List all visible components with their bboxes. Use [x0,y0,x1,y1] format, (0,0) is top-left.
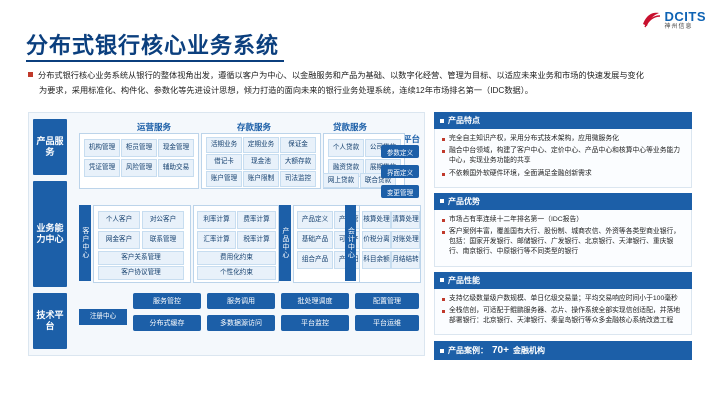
slide-root: DCITS 神州信息 分布式银行核心业务系统 分布式银行核心业务系统从银行的整体… [0,0,720,405]
cell-operation-4[interactable]: 风险管理 [121,159,157,177]
cell-operation-5[interactable]: 辅助交易 [158,159,194,177]
layer-product-service: 产品服务 [33,119,67,175]
intro-line-2: 为要求，采用标准化、构件化、参数化等先进设计思想，倾力打造的面向未来的银行业务处… [39,86,533,95]
list-item: 支持亿级数量级户数规模、单日亿级交易量；平均交易响应时间小于100毫秒 [442,294,684,304]
cell-operation-3[interactable]: 凭证管理 [84,159,120,177]
layer-tech-platform: 技术平台 [33,293,67,349]
vlabel-customer-center: 客户中心 [79,205,91,281]
list-item: 市场占有率连续十二年排名第一（IDC报告） [442,215,684,225]
group-deposit: 活期业务 定期业务 保证金 借记卡 现金池 大额存款 账户管理 账户限制 司法监… [201,133,321,189]
square-icon [440,119,444,123]
bullet-icon [28,72,33,77]
layer-capability-center: 业务能力中心 [33,181,67,287]
cell-operation-0[interactable]: 机构管理 [84,139,120,157]
vlabel-account-center: 会计中心 [345,205,356,281]
cell-product-0[interactable]: 产品定义 [297,211,333,229]
cell-pricing-0[interactable]: 利率计算 [197,211,236,229]
cell-tech-7[interactable]: 平台运维 [355,315,419,331]
cell-account-0[interactable]: 核算处理 [362,211,391,229]
cell-deposit-1[interactable]: 定期业务 [243,137,279,153]
vlabel-product-center: 产品中心 [279,205,291,281]
cell-tech-5[interactable]: 多数据源访问 [207,315,275,331]
cell-tech-0[interactable]: 服务管控 [133,293,201,309]
cell-registry-center[interactable]: 注册中心 [79,309,127,325]
info-header-performance: 产品性能 [434,272,692,289]
info-title-advantages: 产品优势 [448,196,480,207]
cell-customer-5[interactable]: 客户协议管理 [98,266,184,280]
cell-tech-1[interactable]: 服务调用 [207,293,275,309]
cell-deposit-4[interactable]: 现金池 [243,154,279,170]
info-body-performance: 支持亿级数量级户数规模、单日亿级交易量；平均交易响应时间小于100毫秒 全栈信创… [434,289,692,336]
logo-mark-icon [641,10,661,30]
page-title: 分布式银行核心业务系统 [26,28,279,60]
cell-deposit-6[interactable]: 账户管理 [206,171,242,187]
cell-loan-0[interactable]: 个人贷款 [328,139,364,157]
cell-account-2[interactable]: 价税分离 [362,231,391,249]
section-title-operation: 运营服务 [115,121,193,133]
list-item: 融合中台领域，构建了客户中心、定价中心、产品中心和核算中心等业务能力中心，实现业… [442,146,684,166]
brand-logo: DCITS 神州信息 [641,10,707,30]
cell-deposit-2[interactable]: 保证金 [280,137,316,153]
cell-account-4[interactable]: 科目余额 [362,251,391,269]
info-body-features: 完全自主知识产权，采用分布式技术架构，应用微服务化 融合中台领域，构建了客户中心… [434,129,692,188]
cell-customer-3[interactable]: 联系管理 [142,231,184,249]
layer-labels: 产品服务 业务能力中心 技术平台 [29,113,71,355]
square-icon [440,199,444,203]
cell-loan-4[interactable]: 网上贷款 [323,173,359,188]
cell-account-1[interactable]: 清算处理 [391,211,420,229]
cell-product-2[interactable]: 基础产品 [297,231,333,249]
cell-customer-0[interactable]: 个人客户 [98,211,140,229]
case-prefix: 产品案例： [448,345,488,356]
platform-cell-0[interactable]: 参数定义 [381,145,419,158]
group-customer-center: 个人客户 对公客户 网金客户 联系管理 客户关系管理 客户协议管理 [93,205,191,283]
case-value: 70+ [492,345,509,356]
list-item: 完全自主知识产权，采用分布式技术架构，应用微服务化 [442,134,684,144]
cell-pricing-3[interactable]: 税率计算 [237,231,276,249]
info-section-performance: 产品性能 支持亿级数量级户数规模、单日亿级交易量；平均交易响应时间小于100毫秒… [434,272,692,336]
cell-pricing-4[interactable]: 费用化约束 [197,251,276,265]
cell-deposit-3[interactable]: 借记卡 [206,154,242,170]
square-icon [440,278,444,282]
cell-customer-4[interactable]: 客户关系管理 [98,251,184,265]
info-body-advantages: 市场占有率连续十二年排名第一（IDC报告） 客户案例丰富，覆盖国有大行、股份制、… [434,210,692,267]
logo-text: DCITS 神州信息 [665,10,707,30]
group-product-center: 利率计算 费率计算 汇率计算 税率计算 费用化约束 个性化约束 [193,205,279,283]
cell-customer-1[interactable]: 对公客户 [142,211,184,229]
square-icon [440,349,444,353]
cell-tech-2[interactable]: 批处理调度 [281,293,349,309]
case-suffix: 金融机构 [513,345,545,356]
cell-account-3[interactable]: 对账处理 [391,231,420,249]
cell-deposit-5[interactable]: 大额存款 [280,154,316,170]
cell-tech-3[interactable]: 配置管理 [355,293,419,309]
cell-product-4[interactable]: 组合产品 [297,251,333,269]
architecture-panel: 产品服务 业务能力中心 技术平台 运营服务 存款服务 贷款服务 参数平台 机构管… [28,112,425,356]
info-panel: 产品特点 完全自主知识产权，采用分布式技术架构，应用微服务化 融合中台领域，构建… [434,112,692,354]
list-item: 全栈信创，可适配于鲲鹏服务器、芯片、操作系统全部实现信创适配，并落地部署银行：北… [442,306,684,326]
info-section-features: 产品特点 完全自主知识产权，采用分布式技术架构，应用微服务化 融合中台领域，构建… [434,112,692,188]
section-title-loan: 贷款服务 [311,121,389,133]
cell-operation-1[interactable]: 柜员管理 [121,139,157,157]
info-section-advantages: 产品优势 市场占有率连续十二年排名第一（IDC报告） 客户案例丰富，覆盖国有大行… [434,193,692,267]
intro-line-1: 分布式银行核心业务系统从银行的整体视角出发，遵循以客户为中心、以金融服务和产品为… [38,71,644,80]
logo-main-text: DCITS [665,10,707,23]
cell-pricing-1[interactable]: 费率计算 [237,211,276,229]
list-item: 不依赖国外软硬件环境，全面满足金融创新需求 [442,169,684,179]
info-title-features: 产品特点 [448,115,480,126]
title-underline [26,60,284,62]
cell-deposit-7[interactable]: 账户限制 [243,171,279,187]
group-operation: 机构管理 柜员管理 现金管理 凭证管理 风险管理 辅助交易 [79,133,199,189]
cell-pricing-5[interactable]: 个性化约束 [197,266,276,280]
cell-tech-4[interactable]: 分布式缓存 [133,315,201,331]
info-header-features: 产品特点 [434,112,692,129]
info-header-advantages: 产品优势 [434,193,692,210]
cell-deposit-0[interactable]: 活期业务 [206,137,242,153]
cell-tech-6[interactable]: 平台监控 [281,315,349,331]
case-banner: 产品案例：70+金融机构 [434,341,692,360]
platform-cell-1[interactable]: 界面定义 [381,165,419,178]
cell-account-5[interactable]: 月结结转 [391,251,420,269]
cell-deposit-8[interactable]: 司法监控 [280,171,316,187]
intro-paragraph: 分布式银行核心业务系统从银行的整体视角出发，遵循以客户为中心、以金融服务和产品为… [28,68,688,98]
cell-pricing-2[interactable]: 汇率计算 [197,231,236,249]
section-title-deposit: 存款服务 [215,121,293,133]
logo-sub-text: 神州信息 [665,24,707,30]
group-account-center: 核算处理 清算处理 价税分离 对账处理 科目余额 月结结转 [359,205,421,283]
platform-cell-2[interactable]: 变更管理 [381,185,419,198]
cell-customer-2[interactable]: 网金客户 [98,231,140,249]
cell-operation-2[interactable]: 现金管理 [158,139,194,157]
list-item: 客户案例丰富，覆盖国有大行、股份制、城商农信、外资等各类型商业银行，包括：国家开… [442,227,684,258]
info-title-performance: 产品性能 [448,275,480,286]
